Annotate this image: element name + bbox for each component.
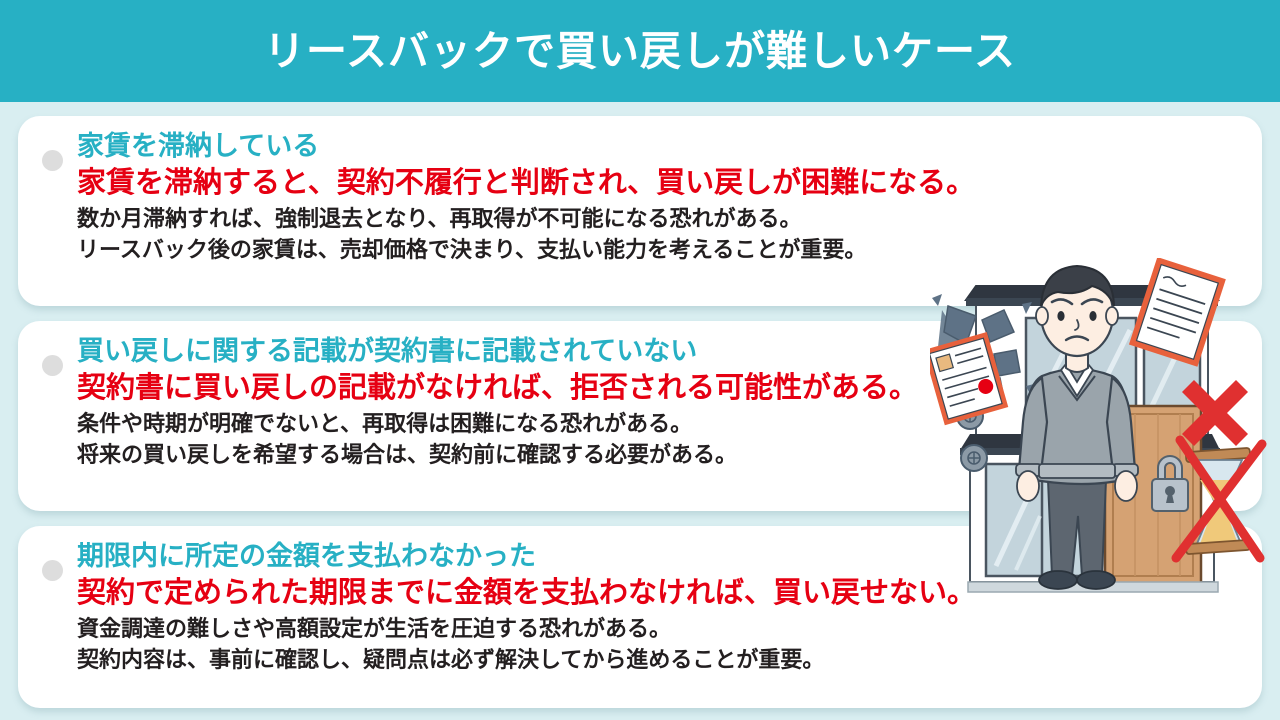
bullet-icon (42, 560, 63, 581)
bullet-icon (42, 355, 63, 376)
cards-container: 家賃を滞納している 家賃を滞納すると、契約不履行と判断され、買い戻しが困難になる… (18, 116, 1262, 708)
case-heading: 買い戻しに関する記載が契約書に記載されていない (77, 335, 1262, 370)
page-title: リースバックで買い戻しが難しいケース (264, 31, 1016, 72)
case-heading: 家賃を滞納している (77, 130, 1262, 165)
case-detail-line: 資金調達の難しさや高額設定が生活を圧迫する恐れがある。 (77, 614, 1262, 645)
case-card-2[interactable]: 買い戻しに関する記載が契約書に記載されていない 契約書に買い戻しの記載がなければ… (18, 321, 1262, 511)
case-card-3[interactable]: 期限内に所定の金額を支払わなかった 契約で定められた期限までに金額を支払わなけれ… (18, 526, 1262, 708)
case-detail-line: 将来の買い戻しを希望する場合は、契約前に確認する必要がある。 (77, 440, 1262, 471)
infographic-page: リースバックで買い戻しが難しいケース 家賃を滞納している 家賃を滞納すると、契約… (0, 0, 1280, 720)
case-emphasis: 契約書に買い戻しの記載がなければ、拒否される可能性がある。 (77, 369, 1262, 407)
case-detail-line: 契約内容は、事前に確認し、疑問点は必ず解決してから進めることが重要。 (77, 645, 1262, 676)
case-heading: 期限内に所定の金額を支払わなかった (77, 540, 1262, 575)
case-card-1[interactable]: 家賃を滞納している 家賃を滞納すると、契約不履行と判断され、買い戻しが困難になる… (18, 116, 1262, 306)
case-detail-line: 条件や時期が明確でないと、再取得は困難になる恐れがある。 (77, 409, 1262, 440)
case-emphasis: 契約で定められた期限までに金額を支払わなければ、買い戻せない。 (77, 574, 1262, 612)
header-banner: リースバックで買い戻しが難しいケース (0, 0, 1280, 102)
case-emphasis: 家賃を滞納すると、契約不履行と判断され、買い戻しが困難になる。 (77, 164, 1262, 202)
case-detail-line: リースバック後の家賃は、売却価格で決まり、支払い能力を考えることが重要。 (77, 235, 1262, 266)
case-detail-line: 数か月滞納すれば、強制退去となり、再取得が不可能になる恐れがある。 (77, 204, 1262, 235)
bullet-icon (42, 150, 63, 171)
